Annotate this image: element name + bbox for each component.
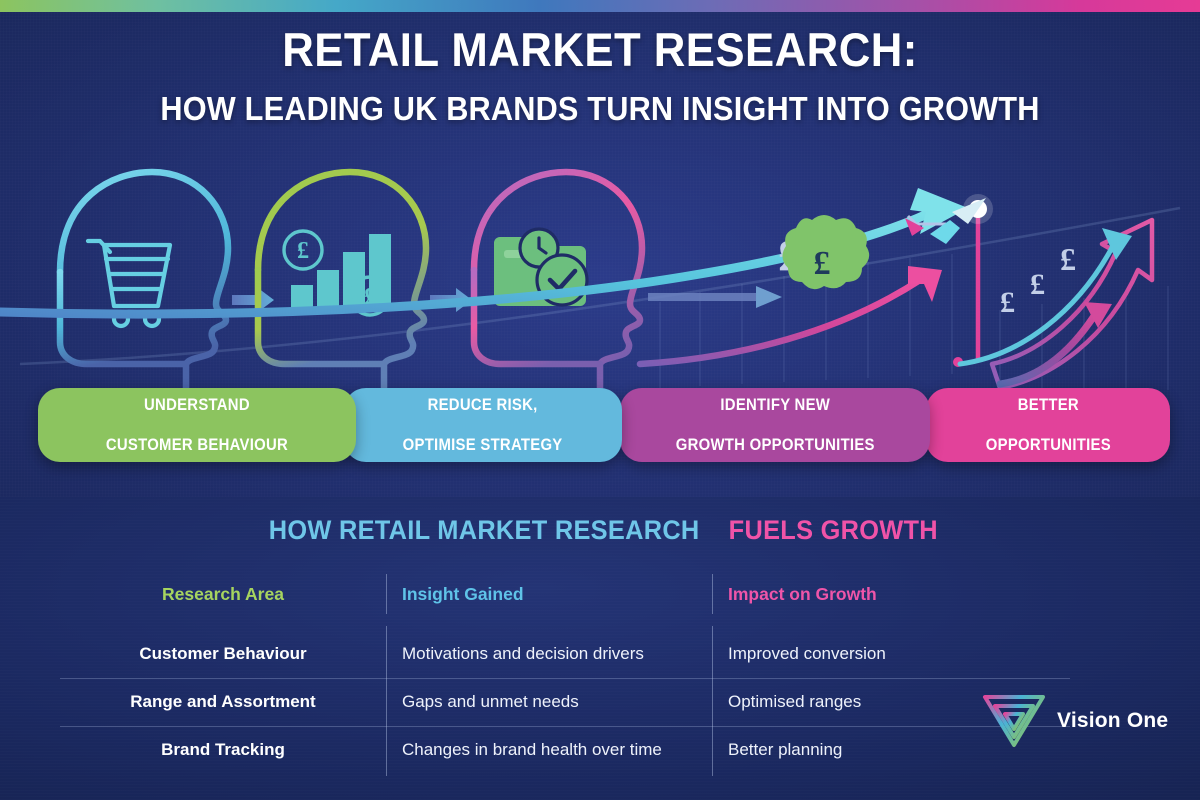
stage-pill-label-line1: REDUCE RISK, [403,395,563,415]
top-gradient-rule [0,0,1200,12]
column-header-research-area: Research Area [60,570,386,618]
table-row: Customer Behaviour Motivations and decis… [0,630,1200,678]
brand-name: Vision One [1057,709,1168,733]
stage-pill-label-line2: GROWTH OPPORTUNITIES [675,435,874,455]
svg-text:£: £ [1000,286,1015,319]
svg-text:£: £ [1030,268,1045,301]
page-title: RETAIL MARKET RESEARCH: HOW LEADING UK B… [0,26,1200,125]
stage-pill-identify-new-growth-opportunities[interactable]: IDENTIFY NEW GROWTH OPPORTUNITIES [620,388,930,462]
svg-text:£: £ [1060,241,1076,277]
cell-research-area: Range and Assortment [60,678,386,726]
heading-part-2: FUELS GROWTH [729,515,938,546]
cell-research-area: Brand Tracking [60,726,386,774]
cell-insight-gained: Motivations and decision drivers [402,630,712,678]
vision-one-v-logo-icon [982,694,1046,748]
stage-pill-reduce-risk-optimise-strategy[interactable]: REDUCE RISK, OPTIMISE STRATEGY [344,388,622,462]
pound-badge-icon: £ [782,215,869,289]
table-section-heading: HOW RETAIL MARKET RESEARCHFUELS GROWTH [0,515,1200,546]
stage-pill-label-line2: CUSTOMER BEHAVIOUR [106,435,288,455]
stage-pill-label-line1: BETTER [985,395,1110,415]
bar-chart-pound-icon: £ £ [284,231,391,315]
heading-part-1: HOW RETAIL MARKET RESEARCH [269,515,700,546]
cell-research-area: Customer Behaviour [60,630,386,678]
title-line-2: HOW LEADING UK BRANDS TURN INSIGHT INTO … [42,92,1158,125]
head-2-reduce-risk: £ £ [258,172,426,388]
stage-pill-label-line1: UNDERSTAND [106,395,288,415]
head-1-customer-behaviour [60,172,228,388]
svg-text:£: £ [814,245,831,282]
title-line-1: RETAIL MARKET RESEARCH: [42,26,1158,73]
column-header-impact-on-growth: Impact on Growth [728,570,1028,618]
stage-pill-label-line1: IDENTIFY NEW [675,395,874,415]
cell-insight-gained: Changes in brand health over time [402,726,712,774]
cell-impact-on-growth: Improved conversion [728,630,1028,678]
svg-text:£: £ [297,238,309,264]
brand-logo[interactable]: Vision One [982,694,1168,748]
stage-pill-label-line2: OPPORTUNITIES [985,435,1110,455]
stage-pill-label-line2: OPTIMISE STRATEGY [403,435,563,455]
table-header-row: Research Area Insight Gained Impact on G… [0,570,1200,618]
cell-insight-gained: Gaps and unmet needs [402,678,712,726]
infographic-page: RETAIL MARKET RESEARCH: HOW LEADING UK B… [0,0,1200,800]
stage-pill-understand-customer-behaviour[interactable]: UNDERSTAND CUSTOMER BEHAVIOUR [38,388,356,462]
head-3-identify-growth [474,172,642,388]
column-header-insight-gained: Insight Gained [402,570,712,618]
journey-stage-pills: UNDERSTAND CUSTOMER BEHAVIOUR REDUCE RIS… [0,388,1200,468]
stage-pill-better-opportunities[interactable]: BETTER OPPORTUNITIES [926,388,1170,462]
